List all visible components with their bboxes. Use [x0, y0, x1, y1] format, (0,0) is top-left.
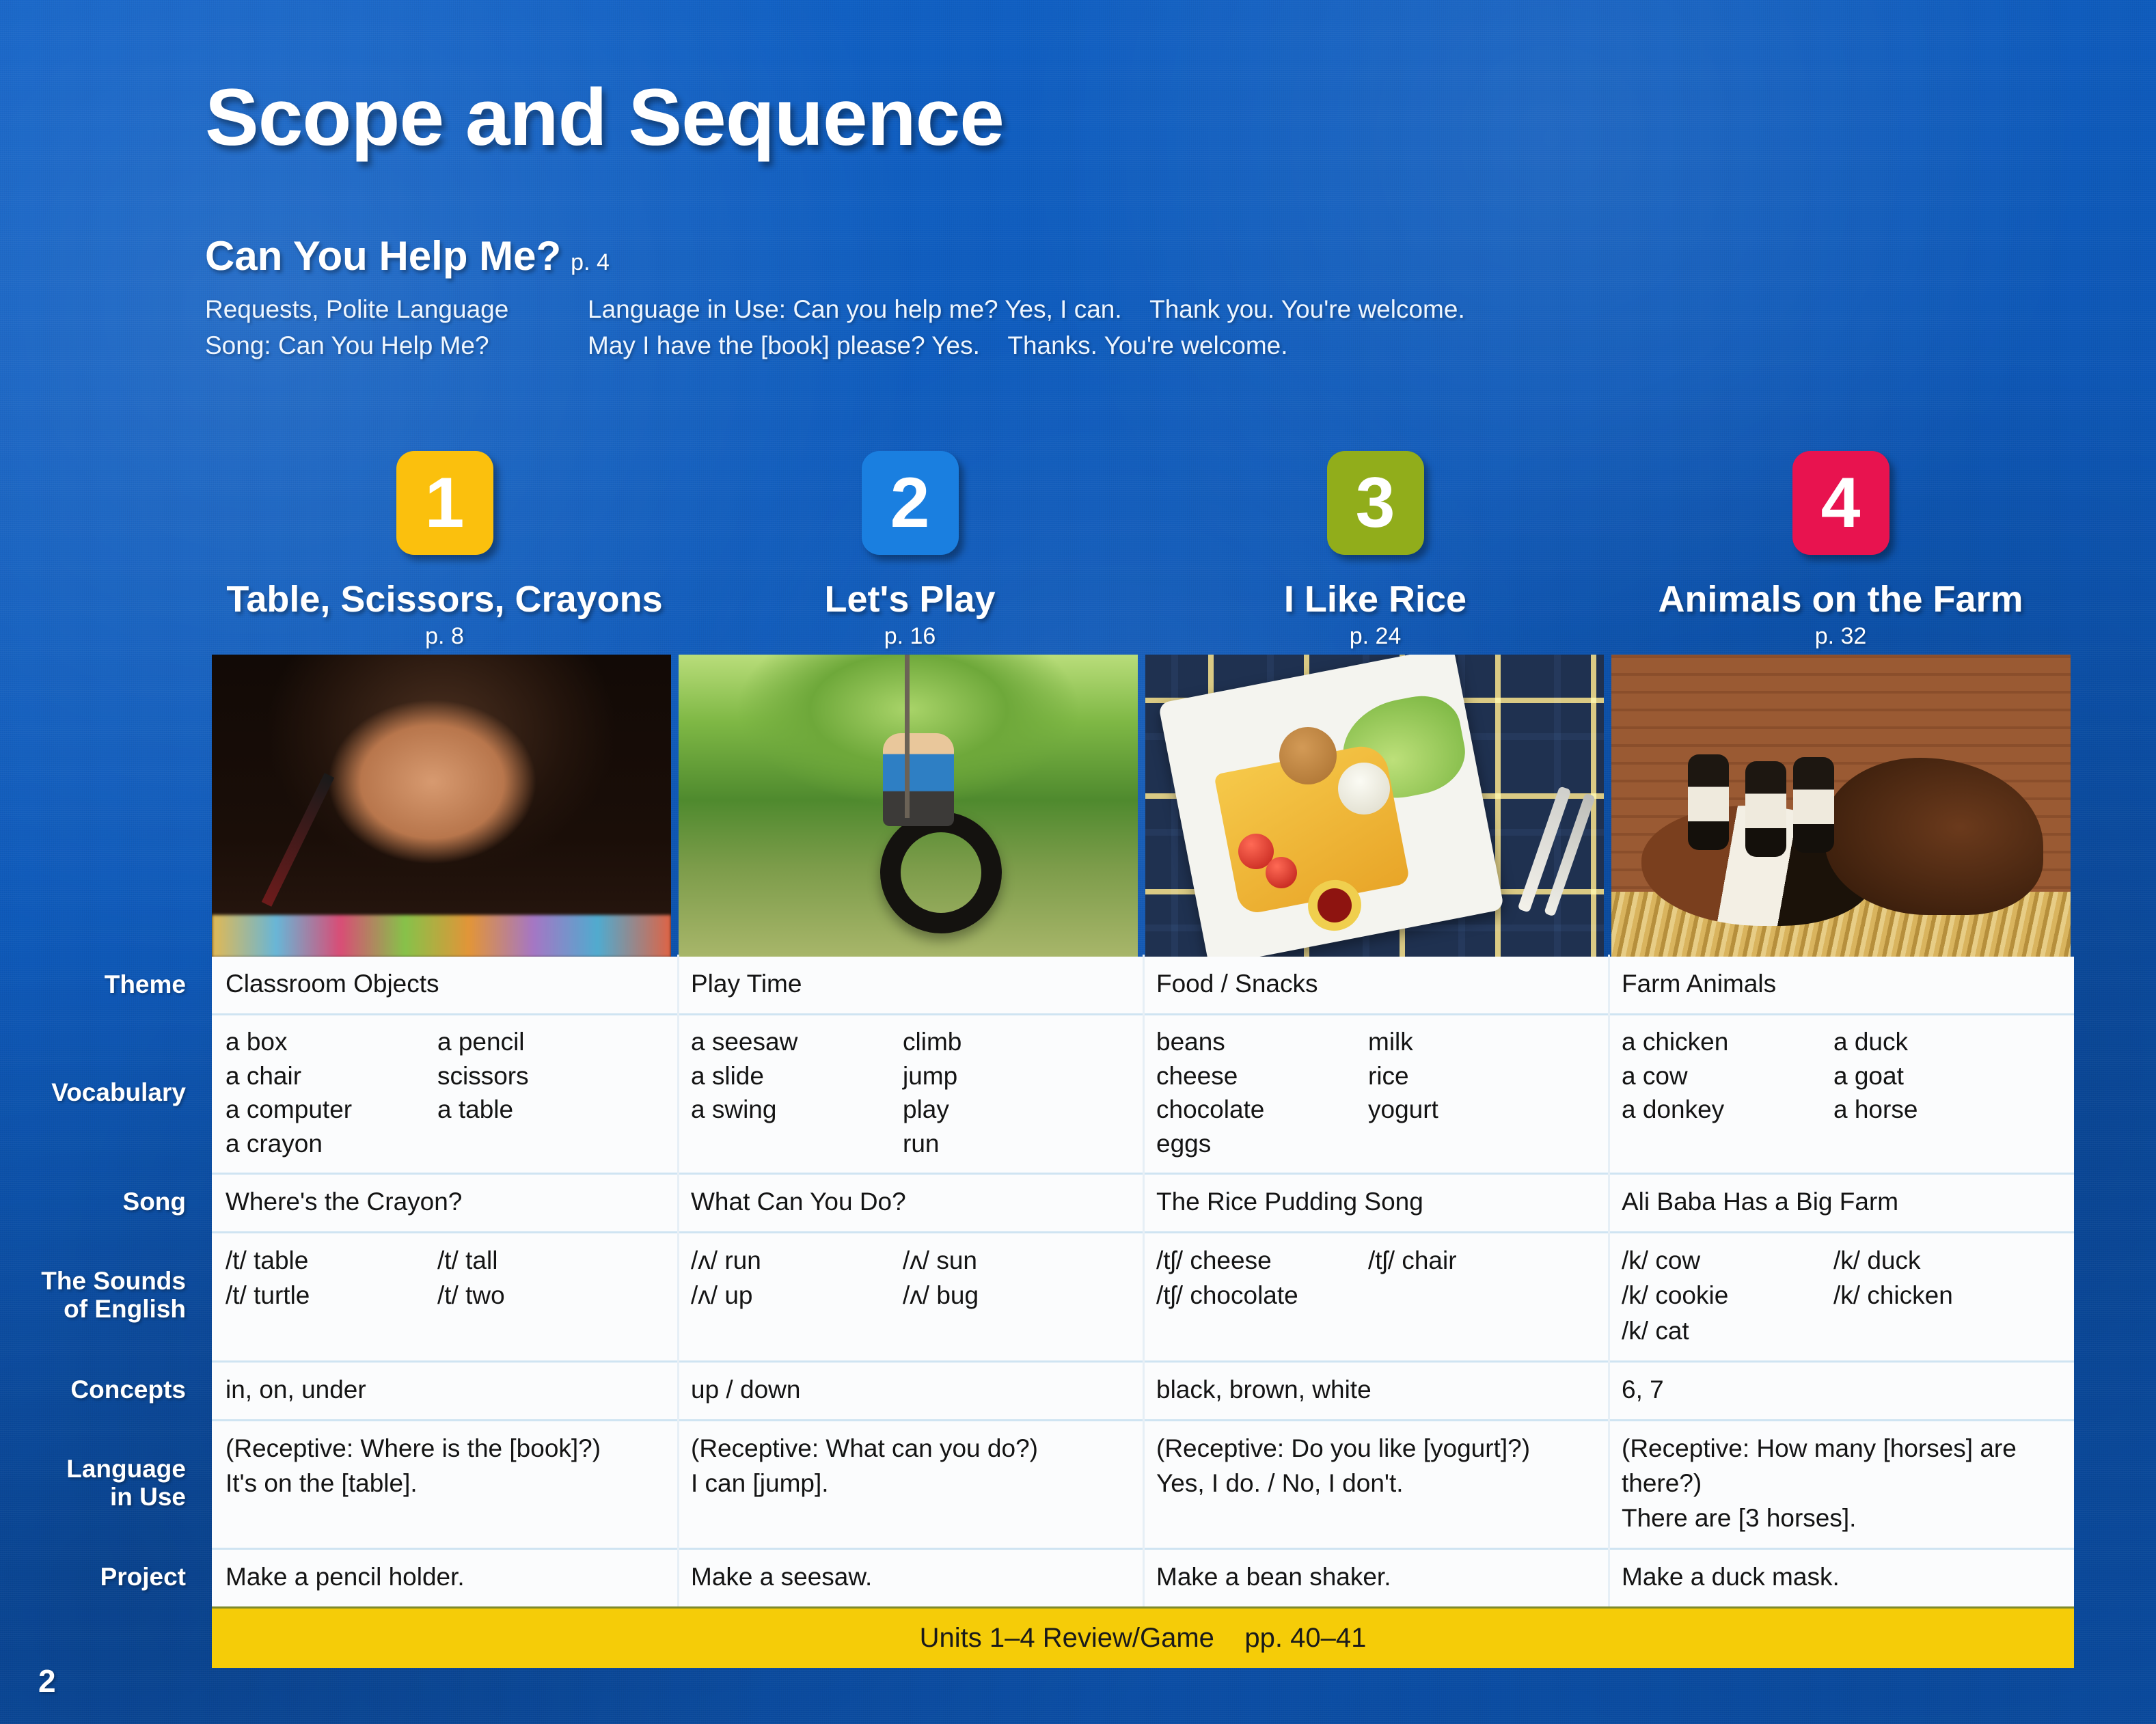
- intro-left-line-1: Requests, Polite Language: [205, 292, 588, 328]
- table-cell-language-in-use-1: (Receptive: Where is the [book]?) It's o…: [212, 1421, 677, 1548]
- table-cell-language-in-use-4: (Receptive: How many [horses] are there?…: [1608, 1421, 2073, 1548]
- unit-badge-2: 2: [862, 451, 959, 555]
- unit-page-ref-3: p. 24: [1350, 623, 1402, 650]
- liu-line: Yes, I do. / No, I don't.: [1156, 1466, 1608, 1501]
- vocab-item: a duck: [1833, 1025, 2045, 1059]
- table-cell-concepts-1: in, on, under: [212, 1363, 677, 1419]
- unit-title-2: Let's Play: [825, 578, 996, 620]
- table-cell-project-1: Make a pencil holder.: [212, 1550, 677, 1606]
- sound-item: /ʌ/ bug: [903, 1278, 1115, 1313]
- sounds-3-col-a: /tʃ/ cheese /tʃ/ chocolate: [1156, 1243, 1368, 1313]
- unit-title-1: Table, Scissors, Crayons: [226, 578, 662, 620]
- table-row-theme: Classroom Objects Play Time Food / Snack…: [212, 957, 2074, 1013]
- intro-heading: Can You Help Me? p. 4: [205, 232, 1613, 279]
- row-label-vocabulary-text: Vocabulary: [51, 1079, 186, 1107]
- liu-line: (Receptive: How many [horses] are: [1622, 1431, 2073, 1466]
- vocabulary-1-col-a: a box a chair a computer a crayon: [226, 1025, 437, 1160]
- vocab-item: eggs: [1156, 1127, 1368, 1161]
- vocab-item: play: [903, 1093, 1115, 1127]
- sound-item: /ʌ/ sun: [903, 1243, 1115, 1278]
- table-cell-vocabulary-2: a seesaw a slide a swing climb jump play…: [677, 1015, 1143, 1173]
- table-cell-sounds-1: /t/ table /t/ turtle /t/ tall /t/ two: [212, 1233, 677, 1360]
- vocab-item: a pencil: [437, 1025, 649, 1059]
- unit-badge-4: 4: [1792, 451, 1889, 555]
- vocab-item: scissors: [437, 1059, 649, 1093]
- row-label-liu-line-1: Language: [66, 1455, 186, 1483]
- vocab-item: a box: [226, 1025, 437, 1059]
- row-label-concepts-text: Concepts: [70, 1376, 186, 1404]
- page-title: Scope and Sequence: [205, 71, 1004, 164]
- vocab-item: a horse: [1833, 1093, 2045, 1127]
- intro-right-line-1: Language in Use: Can you help me? Yes, I…: [588, 292, 1613, 328]
- table-cell-song-1: Where's the Crayon?: [212, 1175, 677, 1231]
- table-row-vocabulary: a box a chair a computer a crayon a penc…: [212, 1013, 2074, 1173]
- sound-item: /k/ chicken: [1833, 1278, 2045, 1313]
- sound-item: /ʌ/ up: [691, 1278, 903, 1313]
- concepts-value-2: up / down: [691, 1372, 1143, 1407]
- table-cell-theme-3: Food / Snacks: [1143, 957, 1608, 1013]
- unit-column-2[interactable]: 2 Let's Play p. 16: [677, 451, 1143, 650]
- table-cell-project-3: Make a bean shaker.: [1143, 1550, 1608, 1606]
- row-label-theme: Theme: [0, 957, 200, 1013]
- tire-swing-child-shape: [883, 733, 954, 826]
- unit-title-3: I Like Rice: [1284, 578, 1466, 620]
- table-row-sounds-of-english: /t/ table /t/ turtle /t/ tall /t/ two /ʌ…: [212, 1231, 2074, 1360]
- song-value-1: Where's the Crayon?: [226, 1184, 677, 1219]
- vocab-item: a chair: [226, 1059, 437, 1093]
- table-cell-song-2: What Can You Do?: [677, 1175, 1143, 1231]
- sound-item: /ʌ/ run: [691, 1243, 903, 1278]
- unit-badge-3: 3: [1327, 451, 1424, 555]
- vocab-item: a donkey: [1622, 1093, 1833, 1127]
- scope-and-sequence-page: Scope and Sequence Can You Help Me? p. 4…: [0, 0, 2156, 1724]
- goat-shape-3: [1793, 757, 1834, 853]
- review-banner: Units 1–4 Review/Game pp. 40–41: [212, 1606, 2074, 1668]
- unit-photo-farm-animals-horse-and-goats: [1611, 655, 2071, 957]
- table-cell-concepts-4: 6, 7: [1608, 1363, 2073, 1419]
- sounds-1-col-a: /t/ table /t/ turtle: [226, 1243, 437, 1313]
- unit-photo-strip: [212, 655, 2071, 957]
- table-cell-sounds-3: /tʃ/ cheese /tʃ/ chocolate /tʃ/ chair: [1143, 1233, 1608, 1360]
- intro-left-line-2: Song: Can You Help Me?: [205, 328, 588, 364]
- project-value-4: Make a duck mask.: [1622, 1559, 2073, 1594]
- table-cell-concepts-2: up / down: [677, 1363, 1143, 1419]
- row-label-vocabulary: Vocabulary: [0, 1013, 200, 1173]
- table-cell-language-in-use-2: (Receptive: What can you do?) I can [jum…: [677, 1421, 1143, 1548]
- theme-value-4: Farm Animals: [1622, 966, 2073, 1001]
- vocab-item: a slide: [691, 1059, 903, 1093]
- row-label-sounds-line-1: The Sounds: [41, 1268, 186, 1296]
- vocab-item: jump: [903, 1059, 1115, 1093]
- table-cell-sounds-2: /ʌ/ run /ʌ/ up /ʌ/ sun /ʌ/ bug: [677, 1233, 1143, 1360]
- sound-item: /t/ tall: [437, 1243, 649, 1278]
- table-cell-vocabulary-4: a chicken a cow a donkey a duck a goat a…: [1608, 1015, 2073, 1173]
- fork-shape: [1518, 786, 1572, 913]
- bear-rice-ball-shape: [1279, 727, 1337, 784]
- theme-value-3: Food / Snacks: [1156, 966, 1608, 1001]
- vocab-item: chocolate: [1156, 1093, 1368, 1127]
- sound-item: /tʃ/ chair: [1368, 1243, 1580, 1278]
- table-cell-song-4: Ali Baba Has a Big Farm: [1608, 1175, 2073, 1231]
- vocab-item: climb: [903, 1025, 1115, 1059]
- sounds-2-col-b: /ʌ/ sun /ʌ/ bug: [903, 1243, 1115, 1313]
- table-row-language-in-use: (Receptive: Where is the [book]?) It's o…: [212, 1419, 2074, 1548]
- table-cell-project-2: Make a seesaw.: [677, 1550, 1143, 1606]
- song-value-3: The Rice Pudding Song: [1156, 1184, 1608, 1219]
- liu-line: there?): [1622, 1466, 2073, 1501]
- vocab-item: a cow: [1622, 1059, 1833, 1093]
- sound-item: /k/ cat: [1622, 1313, 1833, 1348]
- liu-line: (Receptive: Do you like [yogurt]?): [1156, 1431, 1608, 1466]
- vocab-item: a seesaw: [691, 1025, 903, 1059]
- vocab-item: a table: [437, 1093, 649, 1127]
- liu-line: It's on the [table].: [226, 1466, 677, 1501]
- tomato-shape-2: [1266, 857, 1297, 888]
- liu-line: I can [jump].: [691, 1466, 1143, 1501]
- liu-line: There are [3 horses].: [1622, 1501, 2073, 1535]
- intro-right-column: Language in Use: Can you help me? Yes, I…: [588, 292, 1613, 364]
- intro-block: Can You Help Me? p. 4 Requests, Polite L…: [205, 232, 1613, 364]
- unit-badge-1: 1: [396, 451, 493, 555]
- intro-columns: Requests, Polite Language Song: Can You …: [205, 292, 1613, 364]
- table-cell-song-3: The Rice Pudding Song: [1143, 1175, 1608, 1231]
- sounds-2-col-a: /ʌ/ run /ʌ/ up: [691, 1243, 903, 1313]
- unit-header-strip: 1 Table, Scissors, Crayons p. 8 2 Let's …: [212, 451, 2074, 650]
- sounds-1-col-b: /t/ tall /t/ two: [437, 1243, 649, 1313]
- table-cell-theme-2: Play Time: [677, 957, 1143, 1013]
- sound-item: /t/ table: [226, 1243, 437, 1278]
- table-row-concepts: in, on, under up / down black, brown, wh…: [212, 1360, 2074, 1419]
- goat-shape-2: [1745, 761, 1786, 857]
- unit-photo-girl-drawing-with-crayons: [212, 655, 671, 957]
- row-label-concepts: Concepts: [0, 1360, 200, 1419]
- unit-title-4: Animals on the Farm: [1658, 578, 2023, 620]
- row-label-project: Project: [0, 1548, 200, 1606]
- table-cell-project-4: Make a duck mask.: [1608, 1550, 2073, 1606]
- intro-right-line-2: May I have the [book] please? Yes. Thank…: [588, 328, 1613, 364]
- vocabulary-2-col-a: a seesaw a slide a swing: [691, 1025, 903, 1160]
- sound-item: /k/ duck: [1833, 1243, 2045, 1278]
- row-label-theme-text: Theme: [105, 971, 186, 999]
- unit-column-1[interactable]: 1 Table, Scissors, Crayons p. 8: [212, 451, 677, 650]
- liu-line: (Receptive: Where is the [book]?): [226, 1431, 677, 1466]
- intro-left-column: Requests, Polite Language Song: Can You …: [205, 292, 588, 364]
- liu-line: (Receptive: What can you do?): [691, 1431, 1143, 1466]
- table-cell-theme-1: Classroom Objects: [212, 957, 677, 1013]
- unit-column-4[interactable]: 4 Animals on the Farm p. 32: [1608, 451, 2073, 650]
- concepts-value-4: 6, 7: [1622, 1372, 2073, 1407]
- unit-photo-child-on-tire-swing: [679, 655, 1138, 957]
- row-label-project-text: Project: [100, 1563, 186, 1591]
- unit-photo-bento-plate-with-omelet: [1145, 655, 1605, 957]
- sound-item: /k/ cookie: [1622, 1278, 1833, 1313]
- vocabulary-3-col-a: beans cheese chocolate eggs: [1156, 1025, 1368, 1160]
- table-row-song: Where's the Crayon? What Can You Do? The…: [212, 1173, 2074, 1231]
- vocabulary-4-col-b: a duck a goat a horse: [1833, 1025, 2045, 1127]
- sound-item: /t/ turtle: [226, 1278, 437, 1313]
- page-number: 2: [38, 1663, 56, 1699]
- vocab-item: a crayon: [226, 1127, 437, 1161]
- table-cell-vocabulary-3: beans cheese chocolate eggs milk rice yo…: [1143, 1015, 1608, 1173]
- unit-page-ref-4: p. 32: [1815, 623, 1867, 650]
- row-label-song: Song: [0, 1173, 200, 1231]
- row-label-sounds-of-english: The Sounds of English: [0, 1231, 200, 1360]
- theme-value-1: Classroom Objects: [226, 966, 677, 1001]
- song-value-2: What Can You Do?: [691, 1184, 1143, 1219]
- table-cell-sounds-4: /k/ cow /k/ cookie /k/ cat /k/ duck /k/ …: [1608, 1233, 2073, 1360]
- sounds-4-col-a: /k/ cow /k/ cookie /k/ cat: [1622, 1243, 1833, 1347]
- vocab-item: a chicken: [1622, 1025, 1833, 1059]
- row-label-liu-line-2: in Use: [66, 1483, 186, 1511]
- unit-page-ref-2: p. 16: [884, 623, 936, 650]
- song-value-4: Ali Baba Has a Big Farm: [1622, 1184, 2073, 1219]
- vocab-item: beans: [1156, 1025, 1368, 1059]
- row-label-sounds-line-2: of English: [41, 1296, 186, 1324]
- project-value-3: Make a bean shaker.: [1156, 1559, 1608, 1594]
- white-bear-rice-ball-shape: [1338, 763, 1390, 815]
- project-value-1: Make a pencil holder.: [226, 1559, 677, 1594]
- vocab-item: a computer: [226, 1093, 437, 1127]
- intro-title: Can You Help Me?: [205, 232, 561, 279]
- project-value-2: Make a seesaw.: [691, 1559, 1143, 1594]
- row-label-language-in-use: Language in Use: [0, 1419, 200, 1548]
- sounds-4-col-b: /k/ duck /k/ chicken: [1833, 1243, 2045, 1347]
- table-cell-vocabulary-1: a box a chair a computer a crayon a penc…: [212, 1015, 677, 1173]
- concepts-value-1: in, on, under: [226, 1372, 677, 1407]
- vocabulary-4-col-a: a chicken a cow a donkey: [1622, 1025, 1833, 1127]
- intro-page-ref: p. 4: [571, 249, 610, 276]
- vocabulary-3-col-b: milk rice yogurt: [1368, 1025, 1580, 1160]
- unit-column-3[interactable]: 3 I Like Rice p. 24: [1143, 451, 1608, 650]
- vocab-item: a swing: [691, 1093, 903, 1127]
- vocab-item: a goat: [1833, 1059, 2045, 1093]
- table-row-project: Make a pencil holder. Make a seesaw. Mak…: [212, 1548, 2074, 1606]
- vocabulary-2-col-b: climb jump play run: [903, 1025, 1115, 1160]
- row-label-song-text: Song: [123, 1188, 186, 1216]
- concepts-value-3: black, brown, white: [1156, 1372, 1608, 1407]
- scope-and-sequence-table: Classroom Objects Play Time Food / Snack…: [212, 957, 2074, 1606]
- horse-shape: [1825, 758, 2043, 915]
- vocab-item: milk: [1368, 1025, 1580, 1059]
- vocab-item: rice: [1368, 1059, 1580, 1093]
- table-cell-language-in-use-3: (Receptive: Do you like [yogurt]?) Yes, …: [1143, 1421, 1608, 1548]
- vocab-item: run: [903, 1127, 1115, 1161]
- sound-item: /tʃ/ chocolate: [1156, 1278, 1368, 1313]
- vocabulary-1-col-b: a pencil scissors a table: [437, 1025, 649, 1160]
- table-cell-theme-4: Farm Animals: [1608, 957, 2073, 1013]
- review-banner-text: Units 1–4 Review/Game pp. 40–41: [920, 1623, 1367, 1654]
- sound-item: /t/ two: [437, 1278, 649, 1313]
- sound-item: /k/ cow: [1622, 1243, 1833, 1278]
- table-cell-concepts-3: black, brown, white: [1143, 1363, 1608, 1419]
- theme-value-2: Play Time: [691, 966, 1143, 1001]
- sounds-3-col-b: /tʃ/ chair: [1368, 1243, 1580, 1313]
- vocab-item: cheese: [1156, 1059, 1368, 1093]
- sound-item: /tʃ/ cheese: [1156, 1243, 1368, 1278]
- goat-shape-1: [1688, 754, 1729, 850]
- vocab-item: yogurt: [1368, 1093, 1580, 1127]
- unit-page-ref-1: p. 8: [425, 623, 464, 650]
